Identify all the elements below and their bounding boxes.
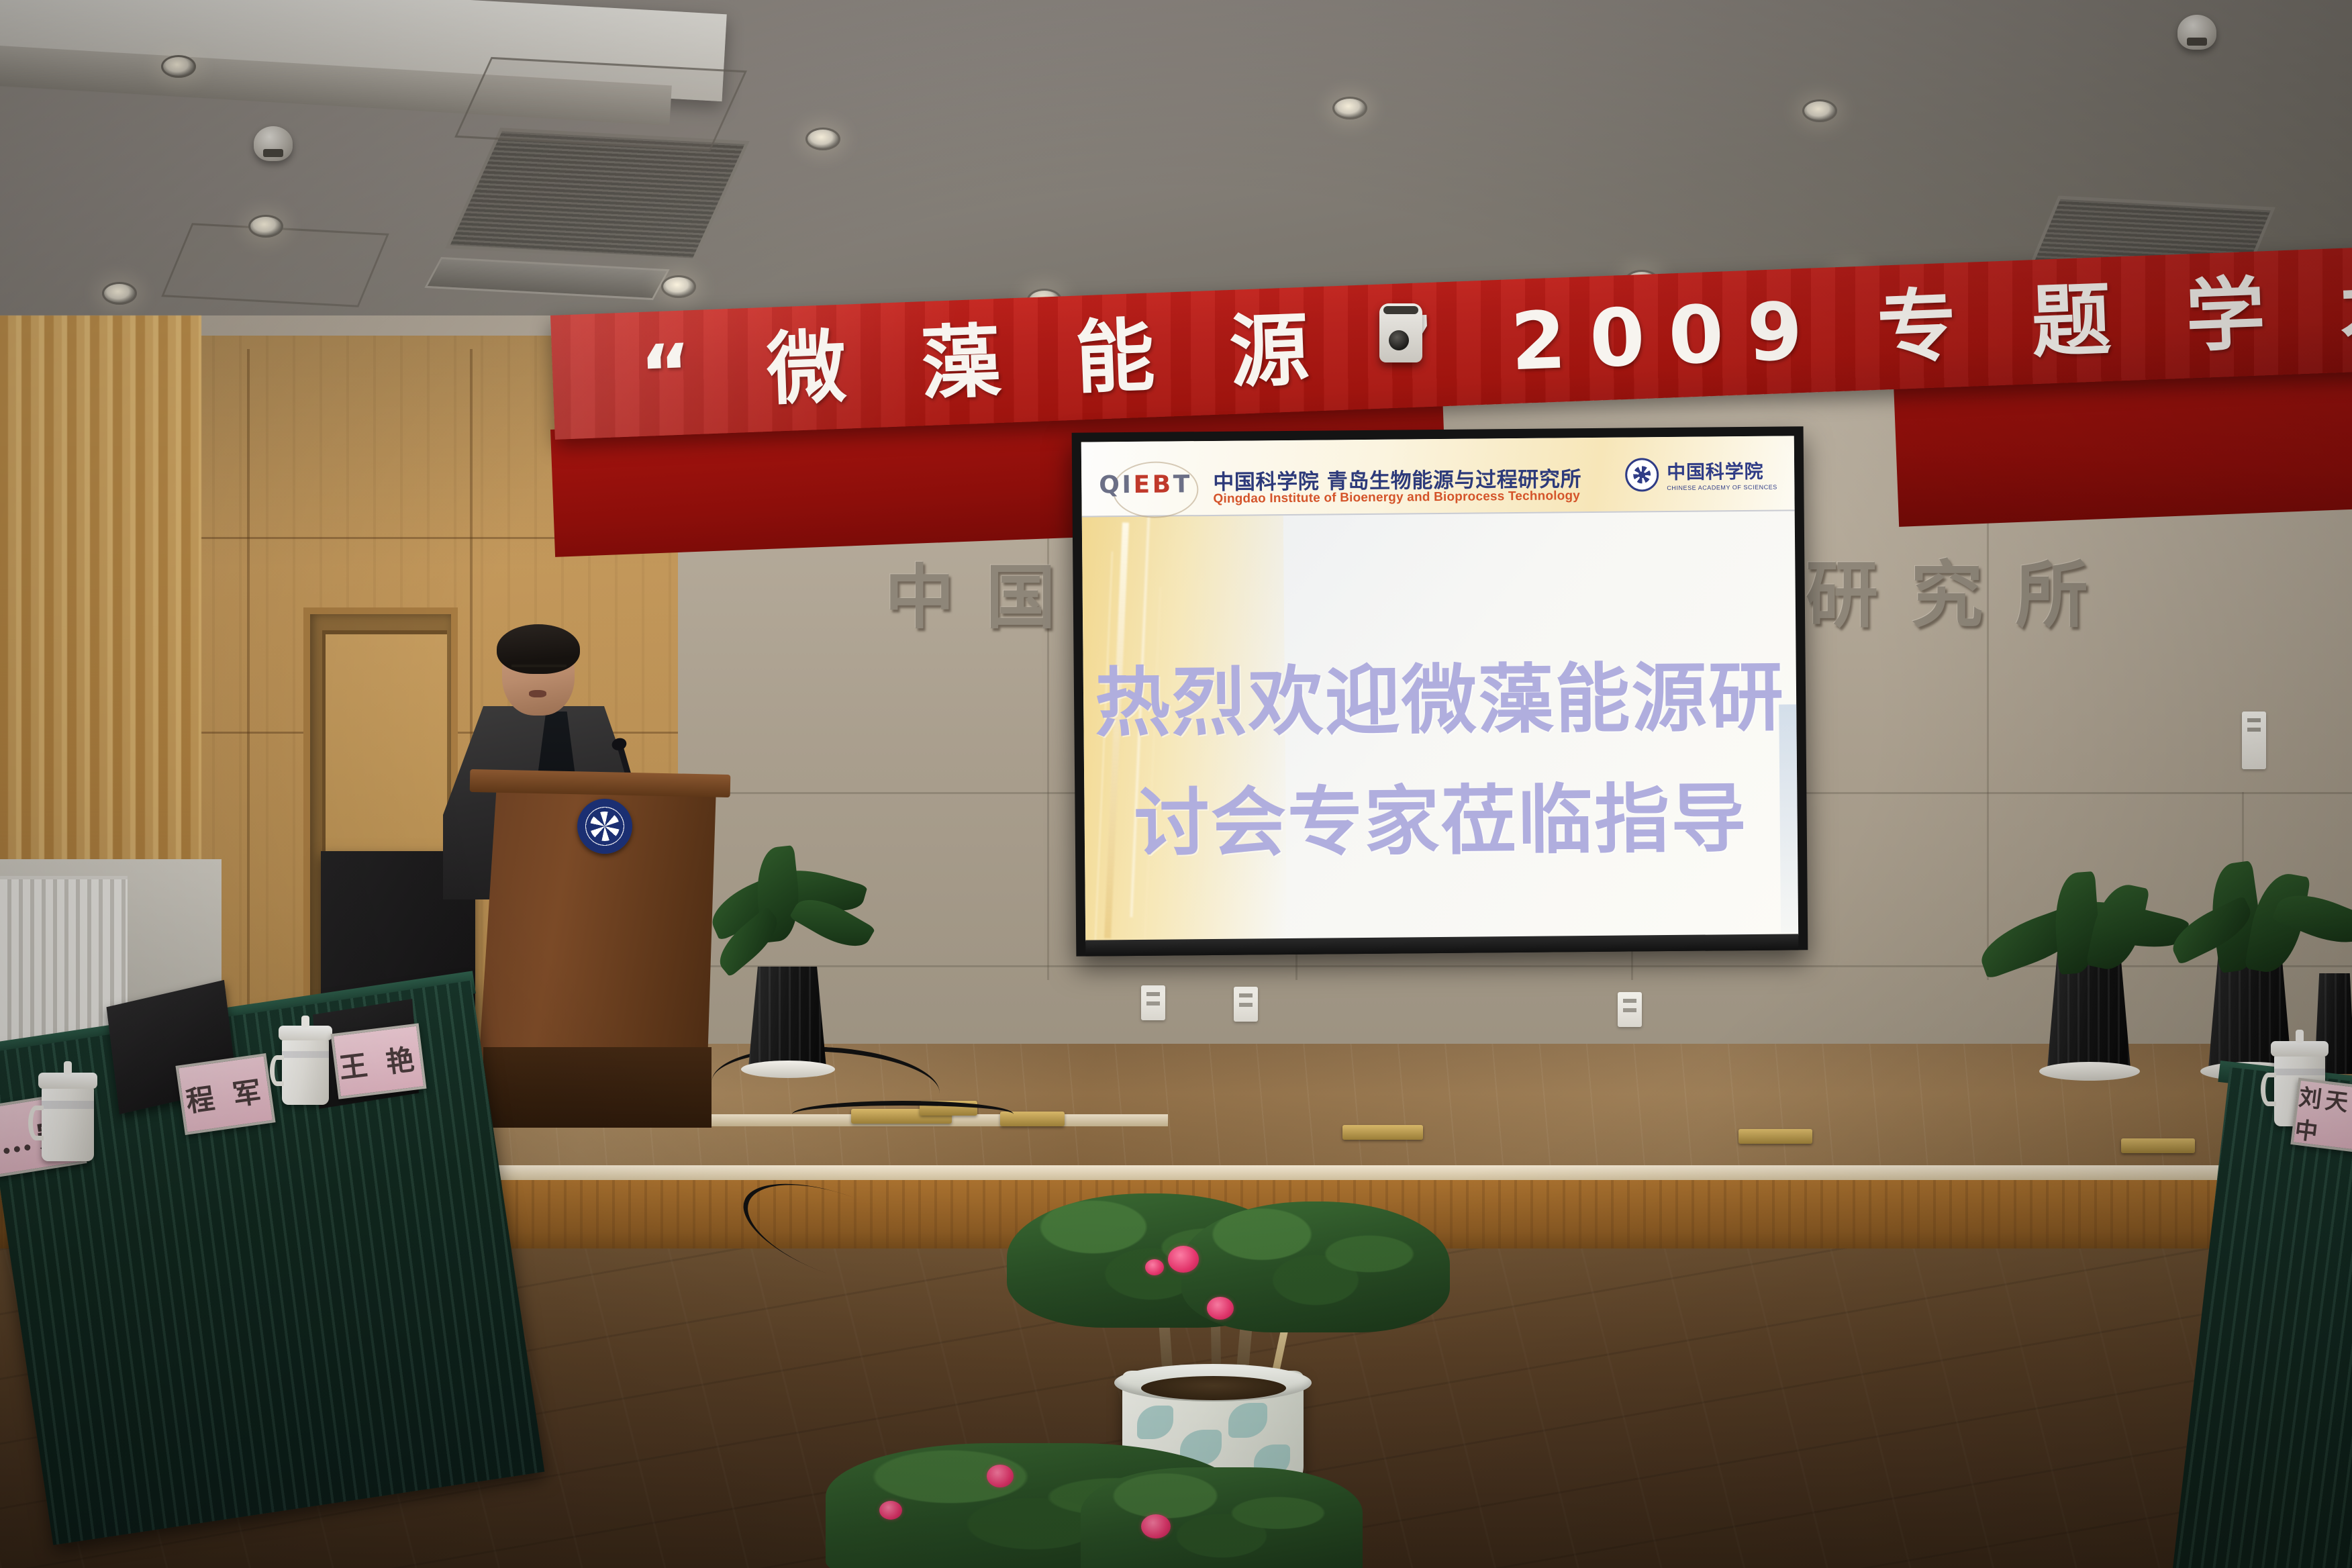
teacup-band	[42, 1101, 94, 1108]
stage-floor-plate	[2121, 1138, 2195, 1153]
slide-edge-accent	[1779, 704, 1798, 932]
power-cable	[792, 1101, 1014, 1128]
projected-slide: QIEBT 中国科学院 青岛生物能源与过程研究所 Qingdao Institu…	[1081, 436, 1798, 941]
name-card: 程 军	[175, 1053, 275, 1135]
flower-bloom	[1141, 1514, 1171, 1538]
flower-bloom	[987, 1465, 1014, 1487]
wall-power-outlet[interactable]	[1618, 992, 1642, 1027]
plant-pot	[748, 967, 826, 1067]
stage-floor-plate	[1342, 1125, 1423, 1140]
cas-emblem-icon	[1625, 458, 1659, 491]
teacup-handle	[28, 1106, 44, 1140]
wall-sign-right: 研 究 所	[1806, 537, 2092, 642]
stage-floor-plate	[1738, 1129, 1812, 1144]
wall-power-outlet[interactable]	[1141, 985, 1165, 1020]
ceiling-downlight	[102, 282, 137, 305]
teacup-handle	[2261, 1073, 2276, 1106]
ceiling-access-panel	[454, 57, 747, 151]
teacup-band	[282, 1051, 329, 1058]
ceiling-downlight	[805, 128, 840, 150]
lectern-base	[483, 1047, 712, 1128]
slide-title-line-1: 热烈欢迎微藻能源研	[1094, 654, 1785, 748]
ceiling-downlight	[661, 275, 696, 298]
name-card: 王 艳	[331, 1023, 427, 1099]
flower-bloom	[879, 1501, 902, 1520]
planter-soil	[1141, 1376, 1286, 1400]
name-card: 刘天中	[2290, 1078, 2352, 1154]
ceiling-downlight	[1802, 99, 1837, 122]
wall-power-outlet[interactable]	[2242, 712, 2266, 769]
cas-logo-text: 中国科学院 CHINESE ACADEMY OF SCIENCES	[1667, 457, 1777, 491]
teacup-handle	[270, 1055, 284, 1086]
ceiling-downlight	[161, 55, 196, 78]
security-camera-icon	[1379, 303, 1422, 362]
teacup	[282, 1038, 329, 1105]
projection-screen: QIEBT 中国科学院 青岛生物能源与过程研究所 Qingdao Institu…	[1072, 426, 1808, 956]
qibebt-logo-text: QIEBT	[1099, 471, 1192, 499]
teacup	[42, 1086, 94, 1161]
flower-bloom	[1207, 1297, 1234, 1320]
slide-title-line-2: 讨会专家莅临指导	[1084, 758, 1798, 885]
wood-panel-seam	[247, 349, 250, 1101]
planter-floral-motif	[1228, 1403, 1267, 1438]
smoke-detector	[254, 126, 293, 161]
foreground-hedge	[1081, 1467, 1363, 1568]
cas-name-cn: 中国科学院	[1667, 457, 1777, 485]
ceiling-downlight	[248, 215, 283, 238]
planter-floral-motif	[1137, 1406, 1173, 1439]
plant-saucer	[741, 1061, 835, 1078]
cas-logo: 中国科学院 CHINESE ACADEMY OF SCIENCES	[1625, 450, 1780, 499]
flower-bloom	[1168, 1246, 1199, 1273]
ceiling-downlight	[1332, 97, 1367, 119]
plant-saucer	[2039, 1062, 2140, 1081]
wall-power-outlet[interactable]	[1234, 987, 1258, 1022]
speaker-mouth	[529, 690, 546, 697]
conference-hall-photo: 中 国 科 研 究 所 “ 微 藻 能 源 ” 2009 专 题 学 术 研 讨…	[0, 0, 2352, 1568]
cas-emblem-icon	[577, 799, 632, 854]
smoke-detector	[2177, 15, 2216, 50]
speaker-glasses	[511, 665, 567, 667]
flower-bloom	[1145, 1259, 1164, 1275]
slide-welcome-title: 热烈欢迎微藻能源研 讨会专家莅临指导	[1083, 637, 1798, 885]
teacup-band	[2274, 1069, 2325, 1076]
cas-name-en: CHINESE ACADEMY OF SCIENCES	[1667, 484, 1777, 491]
